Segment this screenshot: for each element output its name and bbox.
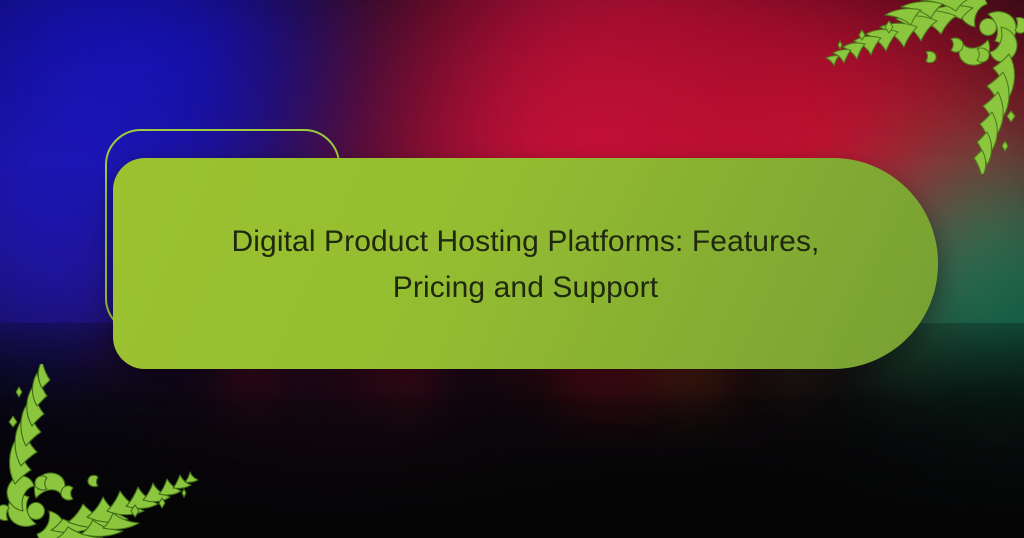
floral-corner-ornament-bottom-left: [0, 364, 199, 538]
floral-corner-ornament-top-right: [825, 0, 1024, 174]
page-title: Digital Product Hosting Platforms: Featu…: [186, 219, 866, 311]
title-card: Digital Product Hosting Platforms: Featu…: [113, 158, 938, 369]
featured-image-canvas: Digital Product Hosting Platforms: Featu…: [0, 0, 1024, 538]
